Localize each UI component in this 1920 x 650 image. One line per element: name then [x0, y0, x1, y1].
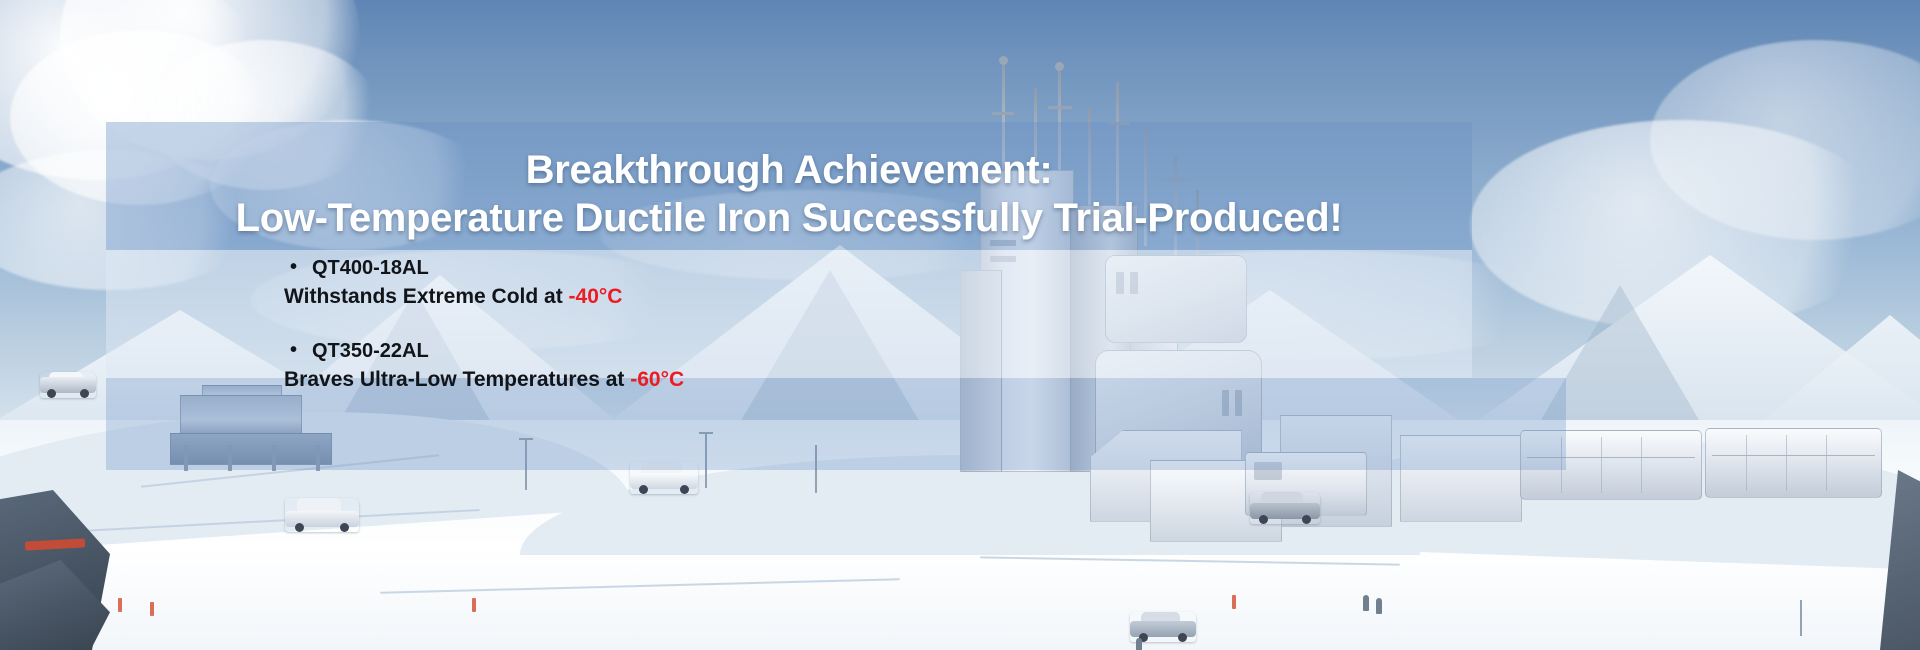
- vehicle-wheel: [80, 389, 89, 398]
- train-car-stripe: [1712, 455, 1875, 456]
- lower-overlay-band: [106, 378, 1566, 470]
- headline-line-2: Low-Temperature Ductile Iron Successfull…: [130, 198, 1448, 238]
- bullet-group-qt400: QT400-18AL Withstands Extreme Cold at -4…: [130, 258, 1448, 307]
- vehicle-wheel: [639, 485, 648, 494]
- vehicle-suv: [285, 498, 359, 532]
- bullet-grade-qt350: QT350-22AL: [130, 341, 1448, 361]
- antenna-cap: [1055, 62, 1064, 71]
- vehicle-wheel: [340, 523, 349, 532]
- train-car-rib: [1826, 435, 1827, 491]
- bullet-list: QT400-18AL Withstands Extreme Cold at -4…: [106, 252, 1472, 390]
- bullet-description-text-qt400: Withstands Extreme Cold at: [284, 285, 569, 308]
- train-car-rib: [1746, 435, 1747, 491]
- trail-marker: [472, 598, 476, 612]
- train-car-rib: [1641, 437, 1642, 493]
- antenna-crossbar: [992, 112, 1014, 115]
- temperature-value-qt400: -40°C: [569, 285, 623, 308]
- train-car: [1705, 428, 1882, 498]
- trail-marker: [150, 602, 154, 616]
- bullet-description-qt400: Withstands Extreme Cold at -40°C: [130, 286, 1448, 307]
- vehicle-wheel: [47, 389, 56, 398]
- vehicle-wheel: [1178, 633, 1187, 642]
- bullet-description-text-qt350: Braves Ultra-Low Temperatures at: [284, 368, 630, 391]
- train-car-rib: [1601, 437, 1602, 493]
- headline-line-1: Breakthrough Achievement:: [130, 150, 1448, 190]
- vehicle-wheel: [295, 523, 304, 532]
- antenna-cap: [999, 56, 1008, 65]
- headline: Breakthrough Achievement: Low-Temperatur…: [106, 150, 1472, 238]
- vehicle-suv: [1250, 492, 1320, 524]
- vehicle-wheel: [1259, 515, 1268, 524]
- vehicle-wheel: [680, 485, 689, 494]
- utility-pole: [1800, 600, 1802, 636]
- bullet-group-qt350: QT350-22AL Braves Ultra-Low Temperatures…: [130, 341, 1448, 390]
- vehicle-wheel: [1302, 515, 1311, 524]
- train-car-rib: [1786, 435, 1787, 491]
- bullet-description-qt350: Braves Ultra-Low Temperatures at -60°C: [130, 369, 1448, 390]
- person-figure: [1363, 595, 1369, 611]
- promo-banner: Breakthrough Achievement: Low-Temperatur…: [0, 0, 1920, 650]
- trail-marker: [118, 598, 122, 612]
- bullet-grade-qt400: QT400-18AL: [130, 258, 1448, 278]
- antenna-crossbar: [1048, 106, 1072, 109]
- person-figure: [1136, 638, 1142, 650]
- person-figure: [1376, 598, 1382, 614]
- trail-marker: [1232, 595, 1236, 609]
- vehicle-truck: [40, 372, 96, 398]
- temperature-value-qt350: -60°C: [630, 368, 684, 391]
- vehicle-cabin: [297, 498, 341, 512]
